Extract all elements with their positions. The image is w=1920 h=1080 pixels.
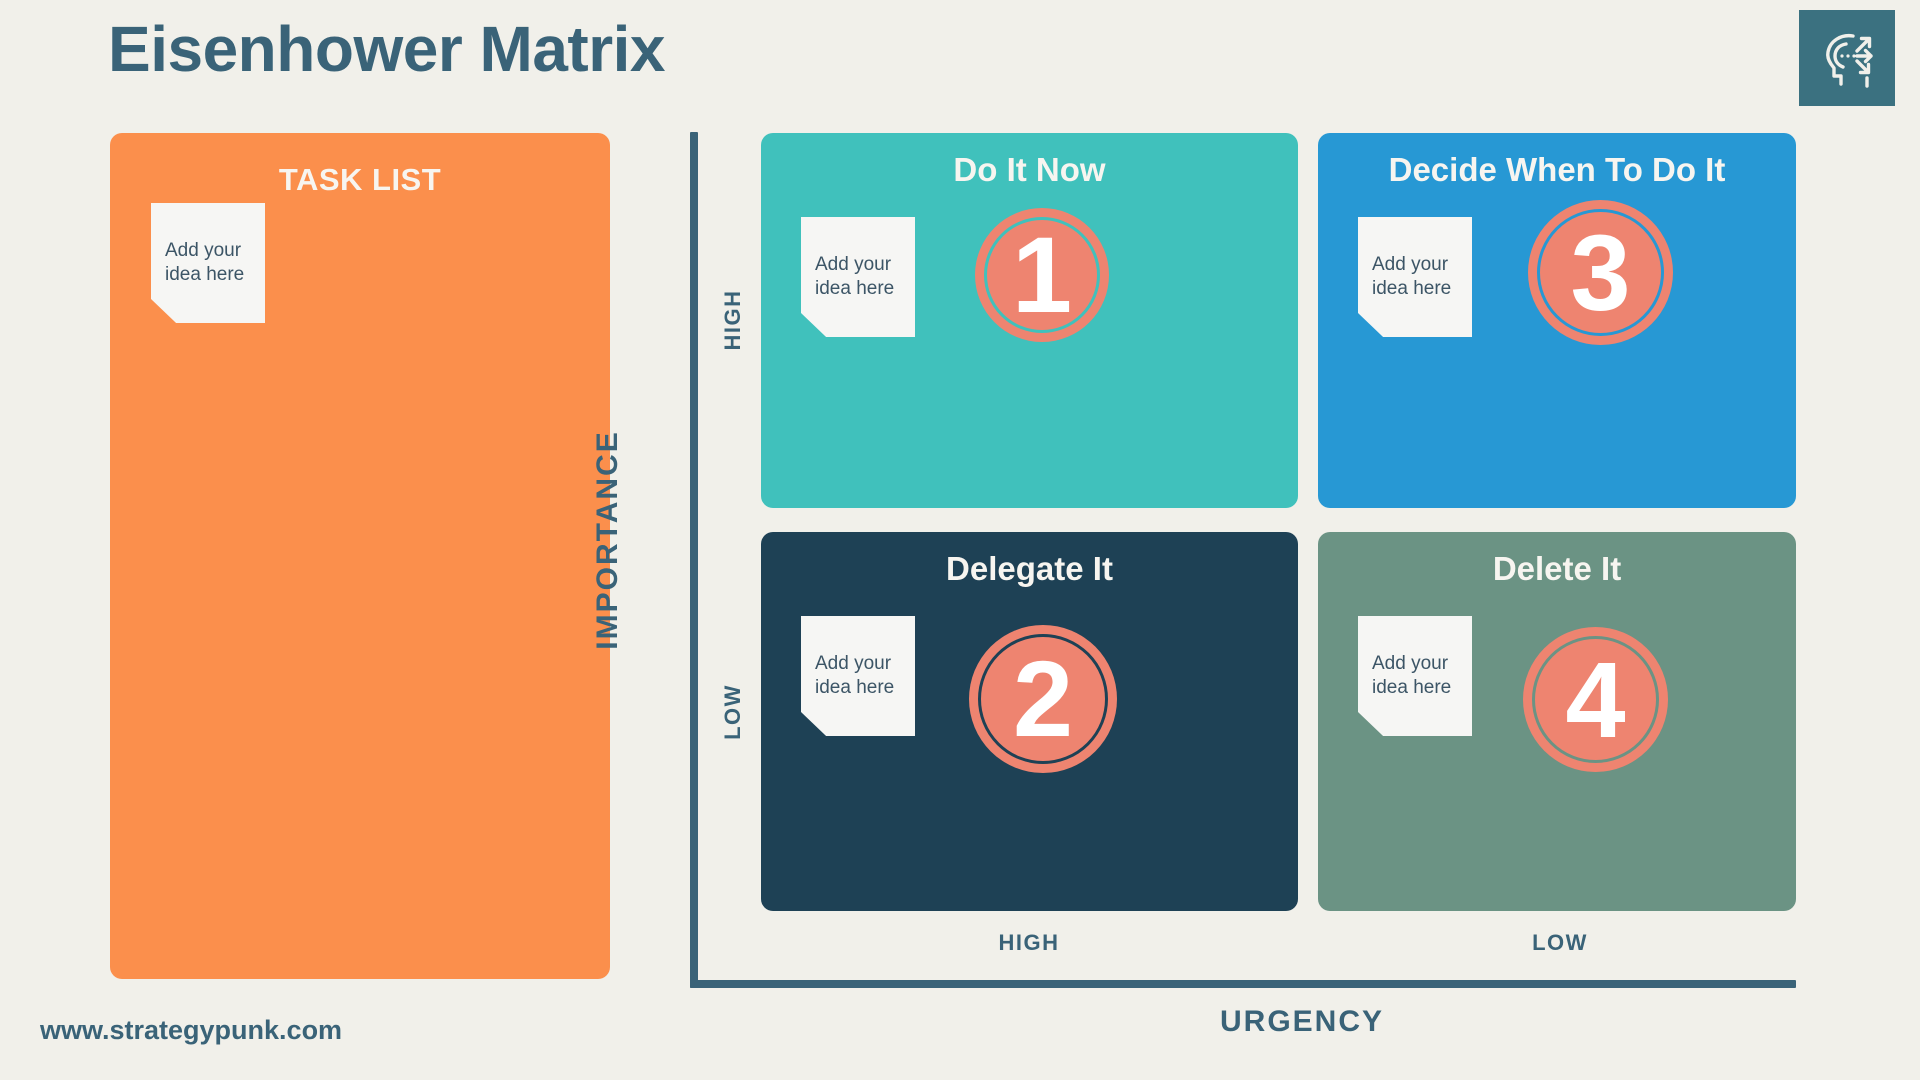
quadrant-number: 4 [1565,646,1625,754]
urgency-axis-label: URGENCY [1220,1005,1384,1039]
quadrant-number-badge: 3 [1528,200,1673,345]
sticky-note-text: Add your idea here [815,652,894,701]
quadrant-number-badge: 4 [1523,627,1668,772]
page-title: Eisenhower Matrix [108,12,665,86]
brand-logo [1799,10,1895,106]
quadrant-number: 3 [1570,219,1630,327]
footer-website-url[interactable]: www.strategypunk.com [40,1015,342,1046]
importance-axis-label: IMPORTANCE [591,430,625,649]
urgency-axis-line [690,980,1796,988]
sticky-note-text: Add your idea here [1372,253,1451,302]
quadrant-number-badge: 2 [969,625,1117,773]
sticky-note[interactable]: Add your idea here [1358,616,1472,736]
importance-axis-line [690,132,698,988]
urgency-tick-low: LOW [1532,930,1588,956]
quadrant-title: Delegate It [761,550,1298,588]
importance-tick-low: LOW [720,684,746,740]
sticky-note[interactable]: Add your idea here [801,616,915,736]
urgency-tick-high: HIGH [999,930,1060,956]
quadrant-title: Decide When To Do It [1318,151,1796,189]
quadrant-number: 2 [1013,645,1073,753]
quadrant-title: Delete It [1318,550,1796,588]
sticky-note[interactable]: Add your idea here [801,217,915,337]
sticky-note-text: Add your idea here [815,253,894,302]
quadrant-number: 1 [1012,221,1072,329]
sticky-note[interactable]: Add your idea here [1358,217,1472,337]
importance-tick-high: HIGH [720,290,746,351]
sticky-note-text: Add your idea here [165,239,244,288]
task-list-panel[interactable]: TASK LIST Add your idea here [110,133,610,979]
sticky-note-text: Add your idea here [1372,652,1451,701]
head-profile-arrows-icon [1813,24,1881,92]
quadrant-number-badge: 1 [975,208,1109,342]
eisenhower-matrix-slide: Eisenhower Matrix TASK LIST Add your ide… [0,0,1920,1080]
task-list-title: TASK LIST [110,162,610,198]
sticky-note[interactable]: Add your idea here [151,203,265,323]
quadrant-title: Do It Now [761,151,1298,189]
